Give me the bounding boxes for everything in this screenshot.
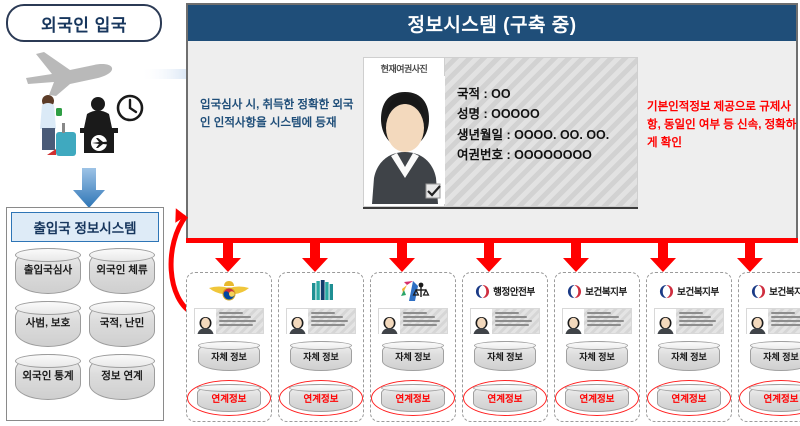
field-name: 성명 : OOOOO	[457, 104, 609, 124]
mini-id-card	[470, 308, 540, 334]
entry-inspection-icons	[26, 92, 156, 164]
field-birthdate: 생년월일 : OOOO. OO. OO.	[457, 125, 609, 145]
passport-fields: 국적 : OO 성명 : OOOOO 생년월일 : OOOO. OO. OO. …	[457, 84, 609, 165]
mini-id-card	[562, 308, 632, 334]
own-info-label: 자체 정보	[671, 350, 707, 363]
agency-label: 행정안전부	[493, 284, 535, 298]
db-label: 사범, 보호	[26, 318, 70, 330]
exit-entry-info-system-panel: 출입국 정보시스템 출입국심사 외국인 체류 사범, 보호 국적, 난민 외국인…	[6, 207, 164, 421]
agency-box-court[interactable]: 자체 정보 연계정보	[370, 272, 456, 422]
db-label: 외국인 통계	[22, 371, 73, 383]
government-taegeuk-icon: 보건복지부	[567, 278, 627, 304]
linked-info-label: 연계정보	[212, 391, 247, 405]
linked-info-label: 연계정보	[580, 391, 615, 405]
mini-avatar	[195, 309, 216, 333]
own-info-label: 자체 정보	[487, 350, 523, 363]
linked-info-highlight: 연계정보	[187, 380, 271, 416]
mini-fields	[676, 309, 723, 333]
vertical-bars-emblem-icon	[299, 278, 343, 304]
red-distribution-arrows	[186, 238, 798, 272]
own-info-label: 자체 정보	[395, 350, 431, 363]
linked-info-label: 연계정보	[304, 391, 339, 405]
avatar	[364, 76, 444, 204]
linked-info-highlight: 연계정보	[647, 380, 731, 416]
government-taegeuk-icon: 행정안전부	[475, 278, 535, 304]
linked-info-cylinder: 연계정보	[289, 384, 353, 412]
system-panel-body: 입국심사 시, 취득한 정확한 외국인 인적사항을 시스템에 등재 현재여권사진	[188, 41, 796, 238]
linked-info-highlight: 연계정보	[739, 380, 800, 416]
diagram-canvas: 외국인 입국	[0, 0, 800, 426]
own-info-label: 자체 정보	[579, 350, 615, 363]
agency-box-mohw-3[interactable]: 보건복지부 자체 정보 연계정보	[738, 272, 800, 422]
government-taegeuk-icon: 보건복지부	[659, 278, 719, 304]
passport-fields-cell: 국적 : OO 성명 : OOOOO 생년월일 : OOOO. OO. OO. …	[445, 57, 638, 207]
own-info-cylinder: 자체 정보	[382, 341, 444, 371]
own-info-cylinder: 자체 정보	[658, 341, 720, 371]
mini-avatar	[287, 309, 308, 333]
field-passport-number: 여권번호 : OOOOOOOO	[457, 145, 609, 165]
linked-info-highlight: 연계정보	[371, 380, 455, 416]
foreigner-entry-pill: 외국인 입국	[6, 4, 162, 42]
mini-id-card	[378, 308, 448, 334]
mini-avatar	[655, 309, 676, 333]
mini-avatar	[471, 309, 492, 333]
linked-info-highlight: 연계정보	[279, 380, 363, 416]
own-info-label: 자체 정보	[763, 350, 799, 363]
db-label: 외국인 체류	[96, 265, 147, 277]
mini-avatar	[563, 309, 584, 333]
left-annotation: 입국심사 시, 취득한 정확한 외국인 인적사항을 시스템에 등재	[200, 97, 360, 133]
mini-id-card	[286, 308, 356, 334]
db-label: 출입국심사	[24, 265, 72, 277]
linked-info-cylinder: 연계정보	[473, 384, 537, 412]
traveler-icon	[40, 95, 76, 156]
foreigner-entry-label: 외국인 입국	[41, 11, 127, 36]
database-cylinder: 국적, 난민	[89, 301, 155, 347]
police-eagle-emblem-icon	[207, 278, 251, 304]
linked-info-cylinder: 연계정보	[749, 384, 800, 412]
blue-down-arrow-icon	[70, 168, 108, 208]
linked-info-label: 연계정보	[672, 391, 707, 405]
agency-box-mohw-2[interactable]: 보건복지부 자체 정보 연계정보	[646, 272, 732, 422]
agency-box-prosecution[interactable]: 자체 정보 연계정보	[278, 272, 364, 422]
own-info-label: 자체 정보	[211, 350, 247, 363]
passport-id-card: 현재여권사진	[363, 57, 638, 209]
linked-info-cylinder: 연계정보	[197, 384, 261, 412]
mini-id-card	[654, 308, 724, 334]
database-cylinder: 출입국심사	[15, 248, 81, 294]
right-annotation: 기본인적정보 제공으로 규제사항, 동일인 여부 등 신속, 정확하게 확인	[647, 99, 797, 152]
system-panel-header: 정보시스템 (구축 중)	[188, 5, 796, 41]
linked-info-label: 연계정보	[764, 391, 799, 405]
linked-info-label: 연계정보	[396, 391, 431, 405]
linked-info-highlight: 연계정보	[555, 380, 639, 416]
mini-fields	[584, 309, 631, 333]
airplane-icon	[18, 44, 118, 96]
agency-row: 자체 정보 연계정보	[186, 272, 798, 422]
linked-info-label: 연계정보	[488, 391, 523, 405]
database-cylinder: 외국인 체류	[89, 248, 155, 294]
information-system-panel: 정보시스템 (구축 중) 입국심사 시, 취득한 정확한 외국인 인적사항을 시…	[186, 3, 798, 240]
agency-box-mois[interactable]: 행정안전부 자체 정보 연계정보	[462, 272, 548, 422]
linked-info-cylinder: 연계정보	[565, 384, 629, 412]
db-label: 정보 연계	[101, 371, 143, 383]
agency-label: 보건복지부	[769, 284, 800, 298]
database-cylinder: 외국인 통계	[15, 354, 81, 400]
linked-info-highlight: 연계정보	[463, 380, 547, 416]
mini-fields	[492, 309, 539, 333]
mini-fields	[308, 309, 355, 333]
linked-info-cylinder: 연계정보	[381, 384, 445, 412]
linked-info-cylinder: 연계정보	[657, 384, 721, 412]
mini-id-card	[194, 308, 264, 334]
mini-fields	[768, 309, 800, 333]
own-info-cylinder: 자체 정보	[566, 341, 628, 371]
own-info-cylinder: 자체 정보	[198, 341, 260, 371]
database-grid: 출입국심사 외국인 체류 사범, 보호 국적, 난민 외국인 통계 정보 연계	[15, 248, 155, 400]
mini-fields	[400, 309, 447, 333]
immigration-officer-desk-icon	[80, 97, 118, 153]
agency-label: 보건복지부	[677, 284, 719, 298]
passport-photo-caption: 현재여권사진	[364, 58, 444, 75]
db-panel-header: 출입국 정보시스템	[11, 212, 159, 242]
mini-id-card	[746, 308, 800, 334]
system-panel-title: 정보시스템 (구축 중)	[407, 10, 576, 37]
own-info-cylinder: 자체 정보	[474, 341, 536, 371]
own-info-cylinder: 자체 정보	[290, 341, 352, 371]
agency-label: 보건복지부	[585, 284, 627, 298]
own-info-cylinder: 자체 정보	[750, 341, 800, 371]
database-cylinder: 정보 연계	[89, 354, 155, 400]
clock-icon	[118, 96, 142, 120]
field-nationality: 국적 : OO	[457, 84, 609, 104]
passport-photo-cell: 현재여권사진	[363, 57, 445, 207]
mini-avatar	[747, 309, 768, 333]
own-info-label: 자체 정보	[303, 350, 339, 363]
agency-box-mohw-1[interactable]: 보건복지부 자체 정보 연계정보	[554, 272, 640, 422]
db-label: 국적, 난민	[100, 318, 144, 330]
mini-avatar	[379, 309, 400, 333]
scales-colorful-emblem-icon	[391, 278, 435, 304]
government-taegeuk-icon: 보건복지부	[751, 278, 800, 304]
db-panel-title: 출입국 정보시스템	[33, 217, 136, 237]
database-cylinder: 사범, 보호	[15, 301, 81, 347]
mini-fields	[216, 309, 263, 333]
agency-box-police[interactable]: 자체 정보 연계정보	[186, 272, 272, 422]
